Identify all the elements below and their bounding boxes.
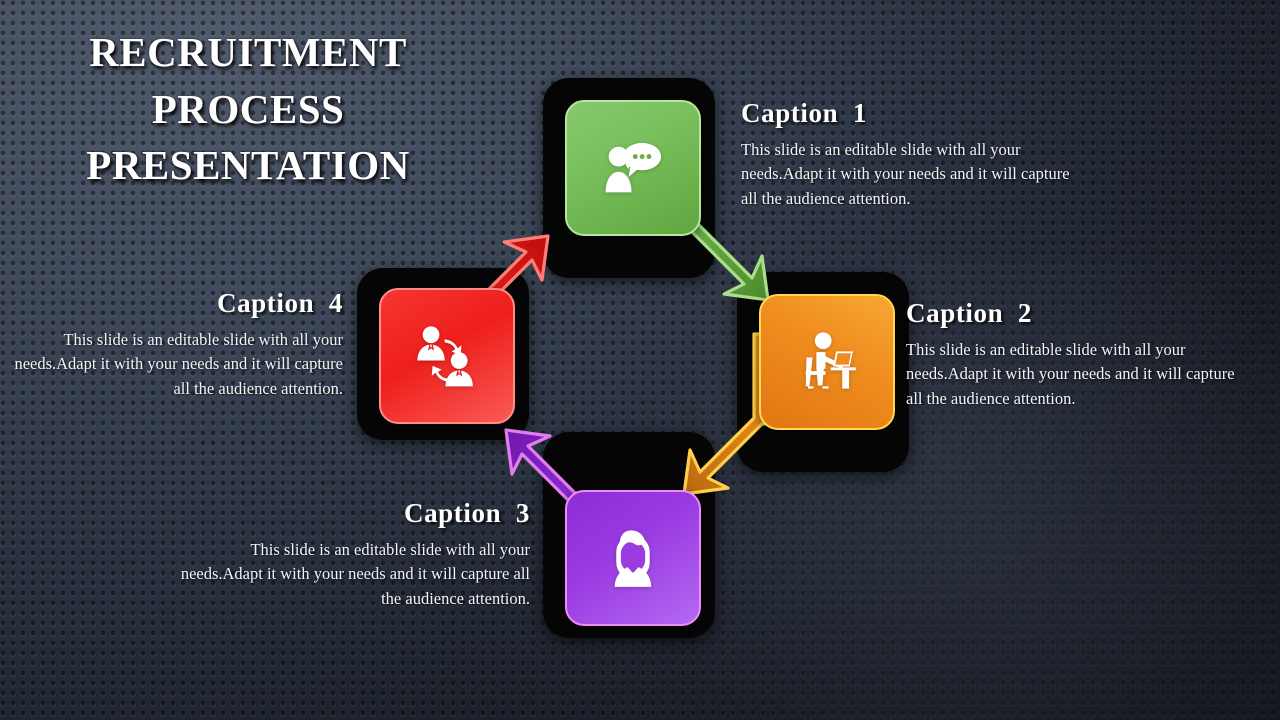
caption-step-2-heading: Caption 2 (906, 298, 1254, 329)
caption-step-1-heading: Caption 1 (741, 98, 1086, 129)
caption-step-3-body: This slide is an editable slide with all… (178, 538, 530, 611)
caption-step-3-heading: Caption 3 (178, 498, 530, 529)
caption-step-2: Caption 2 This slide is an editable slid… (906, 298, 1254, 411)
caption-step-4-heading: Caption 4 (0, 288, 343, 319)
caption-step-3: Caption 3 This slide is an editable slid… (178, 498, 530, 611)
two-people-exchange-icon (409, 318, 485, 394)
caption-step-4: Caption 4 This slide is an editable slid… (0, 288, 343, 401)
caption-step-4-body: This slide is an editable slide with all… (0, 328, 343, 401)
step-3-tile[interactable] (565, 490, 701, 626)
caption-step-1: Caption 1 This slide is an editable slid… (741, 98, 1086, 211)
woman-avatar-icon (595, 520, 671, 596)
step-4-tile[interactable] (379, 288, 515, 424)
presentation-slide: RECRUITMENT PROCESS PRESENTATION (0, 0, 1280, 720)
person-speech-bubble-icon (595, 130, 671, 206)
step-1-tile[interactable] (565, 100, 701, 236)
caption-step-2-body: This slide is an editable slide with all… (906, 338, 1254, 411)
person-at-laptop-icon (789, 324, 865, 400)
caption-step-1-body: This slide is an editable slide with all… (741, 138, 1086, 211)
step-2-tile[interactable] (759, 294, 895, 430)
